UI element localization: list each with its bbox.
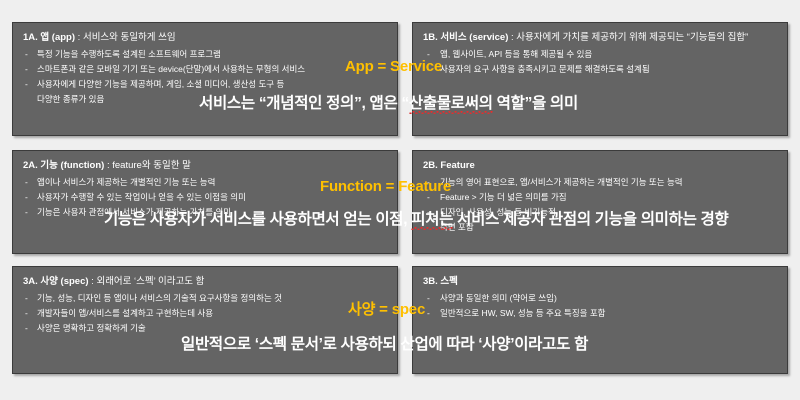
card-1b-bullets: -앱, 웹사이트, API 등을 통해 제공될 수 있음 -사용자의 요구 사항… xyxy=(423,47,777,77)
bullet-text: 일반적으로 HW, SW, 성능 등 주요 특징을 포함 xyxy=(440,308,605,318)
bullet-text: 기능의 영어 표현으로, 앱/서비스가 제공하는 개별적인 기능 또는 능력 xyxy=(440,177,683,187)
bullet-dash-icon: - xyxy=(427,47,430,62)
bullet-text: 기능은 사용자 관점에서 서비스가 제공하는 가치를 의미 xyxy=(37,207,231,217)
bullet-dash-icon: - xyxy=(427,306,430,321)
bullet-dash-icon: - xyxy=(25,205,28,220)
bullet-text: 사양은 명확하고 정확하게 기술 xyxy=(37,323,146,333)
card-1a-bullets: -특정 기능을 수행하도록 설계된 소프트웨어 프로그램 -스마트폰과 같은 모… xyxy=(23,47,387,107)
card-2b-title-bold: 2B. Feature xyxy=(423,160,475,171)
bullet-dash-icon: - xyxy=(25,175,28,190)
card-3a-title-bold: 3A. 사양 (spec) xyxy=(23,276,89,287)
card-2a-title-bold: 2A. 기능 (function) xyxy=(23,160,104,171)
list-item: -개발자들이 앱/서비스를 설계하고 구현하는데 사용 xyxy=(23,306,387,321)
list-item: -기능은 사용자 관점에서 서비스가 제공하는 가치를 의미 xyxy=(23,205,387,220)
card-2a[interactable]: 2A. 기능 (function) : feature와 동일한 말 -앱이나 … xyxy=(12,150,398,254)
bullet-dash-icon: - xyxy=(427,175,430,190)
card-3b-title: 3B. 스펙 xyxy=(423,275,777,288)
list-item: -사양과 동일한 의미 (약어로 쓰임) xyxy=(423,291,777,306)
bullet-dash-icon: - xyxy=(427,62,430,77)
list-item: -앱, 웹사이트, API 등을 통해 제공될 수 있음 xyxy=(423,47,777,62)
card-1a-title-rest: : 서비스와 동일하게 쓰임 xyxy=(75,32,176,43)
card-3b-title-bold: 3B. 스펙 xyxy=(423,276,458,287)
bullet-dash-icon: - xyxy=(25,77,28,92)
bullet-text: Feature > 기능 더 넓은 의미를 가짐 xyxy=(440,192,567,202)
card-1a-title-bold: 1A. 앱 (app) xyxy=(23,32,75,43)
card-2b-title: 2B. Feature xyxy=(423,159,777,172)
card-1b-title-rest: : 사용자에게 가치를 제공하기 위해 제공되는 “기능들의 집합” xyxy=(508,32,748,43)
bullet-text: 사용자에게 다양한 기능을 제공하며, 게임, 소셜 미디어, 생산성 도구 등 xyxy=(37,79,284,89)
bullet-text: 앱, 웹사이트, API 등을 통해 제공될 수 있음 xyxy=(440,49,592,59)
list-item: -스마트폰과 같은 모바일 기기 또는 device(단말)에서 사용하는 무형… xyxy=(23,62,387,77)
bullet-text: 측면 포함 xyxy=(440,222,474,232)
card-3a-bullets: -기능, 성능, 디자인 등 앱이나 서비스의 기술적 요구사항을 정의하는 것… xyxy=(23,291,387,336)
bullet-text: 기능, 성능, 디자인 등 앱이나 서비스의 기술적 요구사항을 정의하는 것 xyxy=(37,293,282,303)
bullet-text: 앱이나 서비스가 제공하는 개별적인 기능 또는 능력 xyxy=(37,177,215,187)
list-item: -사용자의 요구 사항을 충족시키고 문제를 해결하도록 설계됨 xyxy=(423,62,777,77)
card-3b[interactable]: 3B. 스펙 -사양과 동일한 의미 (약어로 쓰임) -일반적으로 HW, S… xyxy=(412,266,788,374)
bullet-dash-icon: - xyxy=(25,62,28,77)
bullet-text: 특정 기능을 수행하도록 설계된 소프트웨어 프로그램 xyxy=(37,49,221,59)
bullet-dash-icon: - xyxy=(25,291,28,306)
card-3a-title-rest: : 외래어로 ‘스펙’ 이라고도 함 xyxy=(89,276,205,287)
card-2a-bullets: -앱이나 서비스가 제공하는 개별적인 기능 또는 능력 -사용자가 수행할 수… xyxy=(23,175,387,220)
list-item: -측면 포함 xyxy=(423,220,777,235)
bullet-dash-icon: - xyxy=(427,190,430,205)
card-1b[interactable]: 1B. 서비스 (service) : 사용자에게 가치를 제공하기 위해 제공… xyxy=(412,22,788,136)
list-item: -기능의 영어 표현으로, 앱/서비스가 제공하는 개별적인 기능 또는 능력 xyxy=(423,175,777,190)
definition-row-3: 3A. 사양 (spec) : 외래어로 ‘스펙’ 이라고도 함 -기능, 성능… xyxy=(12,266,788,374)
list-item: -디자인, 사용성, 성능 등 비기능적 xyxy=(423,205,777,220)
card-2b[interactable]: 2B. Feature -기능의 영어 표현으로, 앱/서비스가 제공하는 개별… xyxy=(412,150,788,254)
definition-row-2: 2A. 기능 (function) : feature와 동일한 말 -앱이나 … xyxy=(12,150,788,254)
definition-grid: 1A. 앱 (app) : 서비스와 동일하게 쓰임 -특정 기능을 수행하도록… xyxy=(12,22,788,374)
bullet-dash-icon: - xyxy=(25,47,28,62)
list-item: -사용자가 수행할 수 있는 작업이나 얻을 수 있는 이점을 의미 xyxy=(23,190,387,205)
list-item: -Feature > 기능 더 넓은 의미를 가짐 xyxy=(423,190,777,205)
card-2a-title: 2A. 기능 (function) : feature와 동일한 말 xyxy=(23,159,387,172)
card-1a-title: 1A. 앱 (app) : 서비스와 동일하게 쓰임 xyxy=(23,31,387,44)
bullet-text: 사양과 동일한 의미 (약어로 쓰임) xyxy=(440,293,557,303)
bullet-text: 개발자들이 앱/서비스를 설계하고 구현하는데 사용 xyxy=(37,308,213,318)
slide-canvas: 1A. 앱 (app) : 서비스와 동일하게 쓰임 -특정 기능을 수행하도록… xyxy=(0,0,800,400)
list-item: -일반적으로 HW, SW, 성능 등 주요 특징을 포함 xyxy=(423,306,777,321)
bullet-dash-icon: - xyxy=(25,306,28,321)
bullet-dash-icon: - xyxy=(25,190,28,205)
list-item: -다양한 종류가 있음 xyxy=(23,92,387,107)
bullet-dash-icon: - xyxy=(25,321,28,336)
list-item: -기능, 성능, 디자인 등 앱이나 서비스의 기술적 요구사항을 정의하는 것 xyxy=(23,291,387,306)
list-item: -사용자에게 다양한 기능을 제공하며, 게임, 소셜 미디어, 생산성 도구 … xyxy=(23,77,387,92)
card-2a-title-rest: : feature와 동일한 말 xyxy=(104,160,190,171)
card-1b-title: 1B. 서비스 (service) : 사용자에게 가치를 제공하기 위해 제공… xyxy=(423,31,777,44)
definition-row-1: 1A. 앱 (app) : 서비스와 동일하게 쓰임 -특정 기능을 수행하도록… xyxy=(12,22,788,136)
bullet-text: 다양한 종류가 있음 xyxy=(37,94,104,104)
bullet-text: 스마트폰과 같은 모바일 기기 또는 device(단말)에서 사용하는 무형의… xyxy=(37,64,305,74)
bullet-dash-icon: - xyxy=(427,291,430,306)
list-item: -특정 기능을 수행하도록 설계된 소프트웨어 프로그램 xyxy=(23,47,387,62)
card-3b-bullets: -사양과 동일한 의미 (약어로 쓰임) -일반적으로 HW, SW, 성능 등… xyxy=(423,291,777,321)
card-1a[interactable]: 1A. 앱 (app) : 서비스와 동일하게 쓰임 -특정 기능을 수행하도록… xyxy=(12,22,398,136)
bullet-dash-icon: - xyxy=(427,205,430,220)
card-1b-title-bold: 1B. 서비스 (service) xyxy=(423,32,508,43)
bullet-text: 디자인, 사용성, 성능 등 비기능적 xyxy=(440,207,556,217)
bullet-text: 사용자의 요구 사항을 충족시키고 문제를 해결하도록 설계됨 xyxy=(440,64,650,74)
card-3a[interactable]: 3A. 사양 (spec) : 외래어로 ‘스펙’ 이라고도 함 -기능, 성능… xyxy=(12,266,398,374)
list-item: -사양은 명확하고 정확하게 기술 xyxy=(23,321,387,336)
bullet-text: 사용자가 수행할 수 있는 작업이나 얻을 수 있는 이점을 의미 xyxy=(37,192,246,202)
card-2b-bullets: -기능의 영어 표현으로, 앱/서비스가 제공하는 개별적인 기능 또는 능력 … xyxy=(423,175,777,235)
card-3a-title: 3A. 사양 (spec) : 외래어로 ‘스펙’ 이라고도 함 xyxy=(23,275,387,288)
list-item: -앱이나 서비스가 제공하는 개별적인 기능 또는 능력 xyxy=(23,175,387,190)
